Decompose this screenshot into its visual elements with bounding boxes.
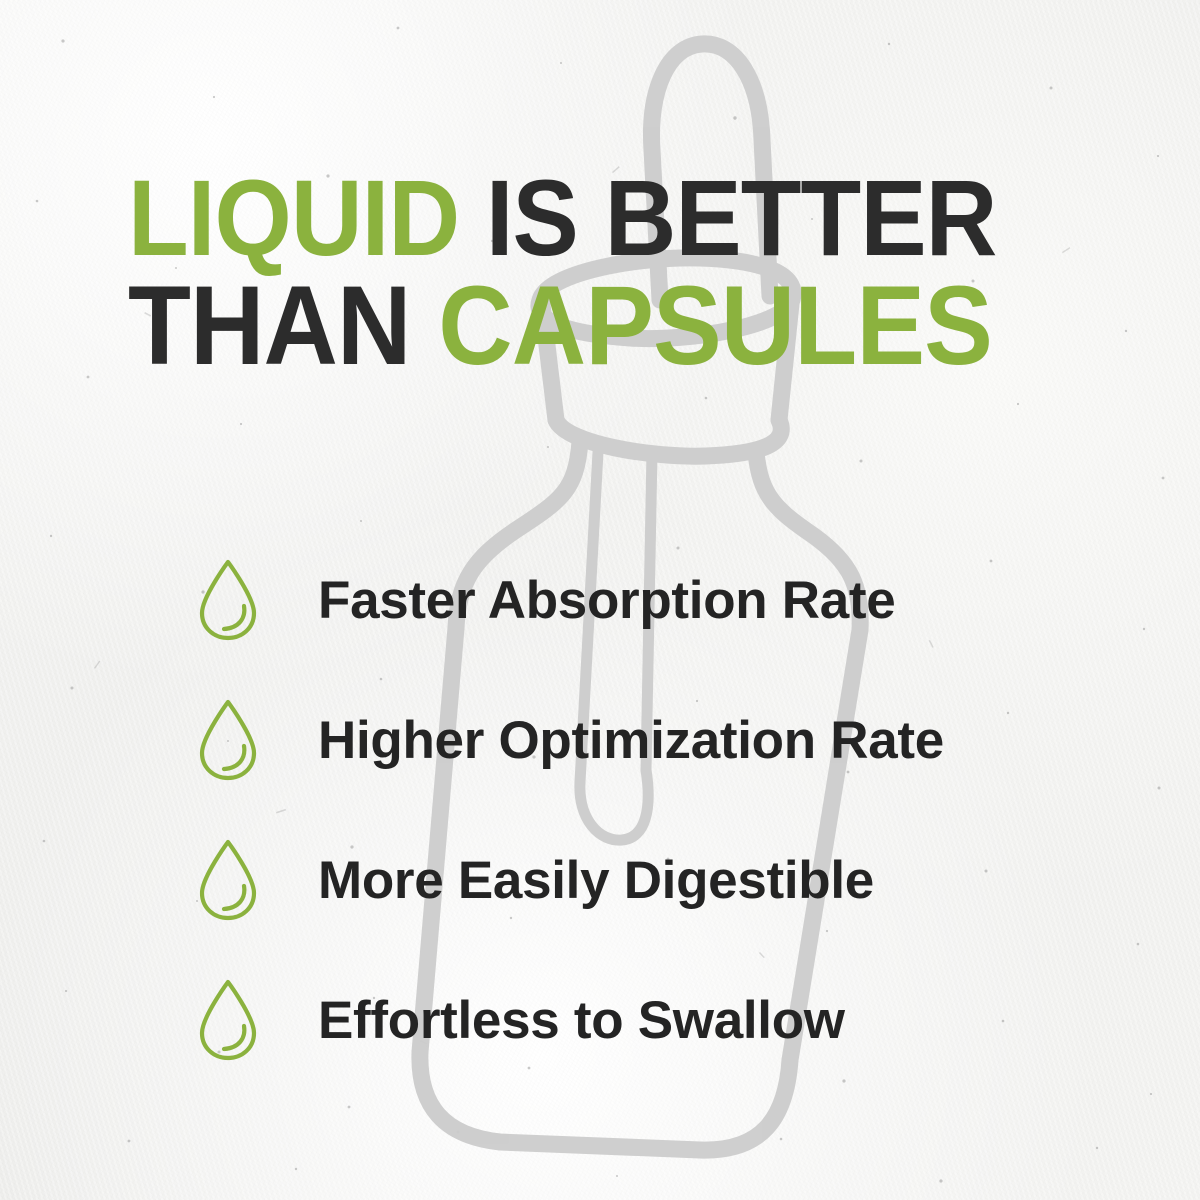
benefits-list: Faster Absorption Rate Higher Optimizati… (196, 530, 1136, 1090)
headline-word-liquid: LIQUID (128, 157, 486, 278)
benefit-item-higher-optimization: Higher Optimization Rate (196, 670, 1136, 810)
benefit-label: More Easily Digestible (318, 850, 874, 911)
droplet-icon (196, 837, 260, 923)
headline-word-capsules: CAPSULES (438, 263, 992, 388)
headline-line-1: LIQUID IS BETTER (128, 168, 1030, 268)
benefit-label: Faster Absorption Rate (318, 570, 895, 631)
benefit-item-effortless-to-swallow: Effortless to Swallow (196, 950, 1136, 1090)
droplet-icon (196, 697, 260, 783)
headline-word-than: THAN (128, 263, 438, 388)
liquid-vs-capsules-poster: LIQUID IS BETTER THAN CAPSULES Faster Ab… (0, 0, 1200, 1200)
benefit-label: Effortless to Swallow (318, 990, 845, 1051)
benefit-label: Higher Optimization Rate (318, 710, 944, 771)
headline-word-is-better: IS BETTER (486, 157, 997, 278)
headline: LIQUID IS BETTER THAN CAPSULES (128, 168, 1108, 379)
droplet-icon (196, 557, 260, 643)
headline-line-2: THAN CAPSULES (128, 274, 1030, 378)
benefit-item-more-easily-digestible: More Easily Digestible (196, 810, 1136, 950)
benefit-item-faster-absorption: Faster Absorption Rate (196, 530, 1136, 670)
droplet-icon (196, 977, 260, 1063)
